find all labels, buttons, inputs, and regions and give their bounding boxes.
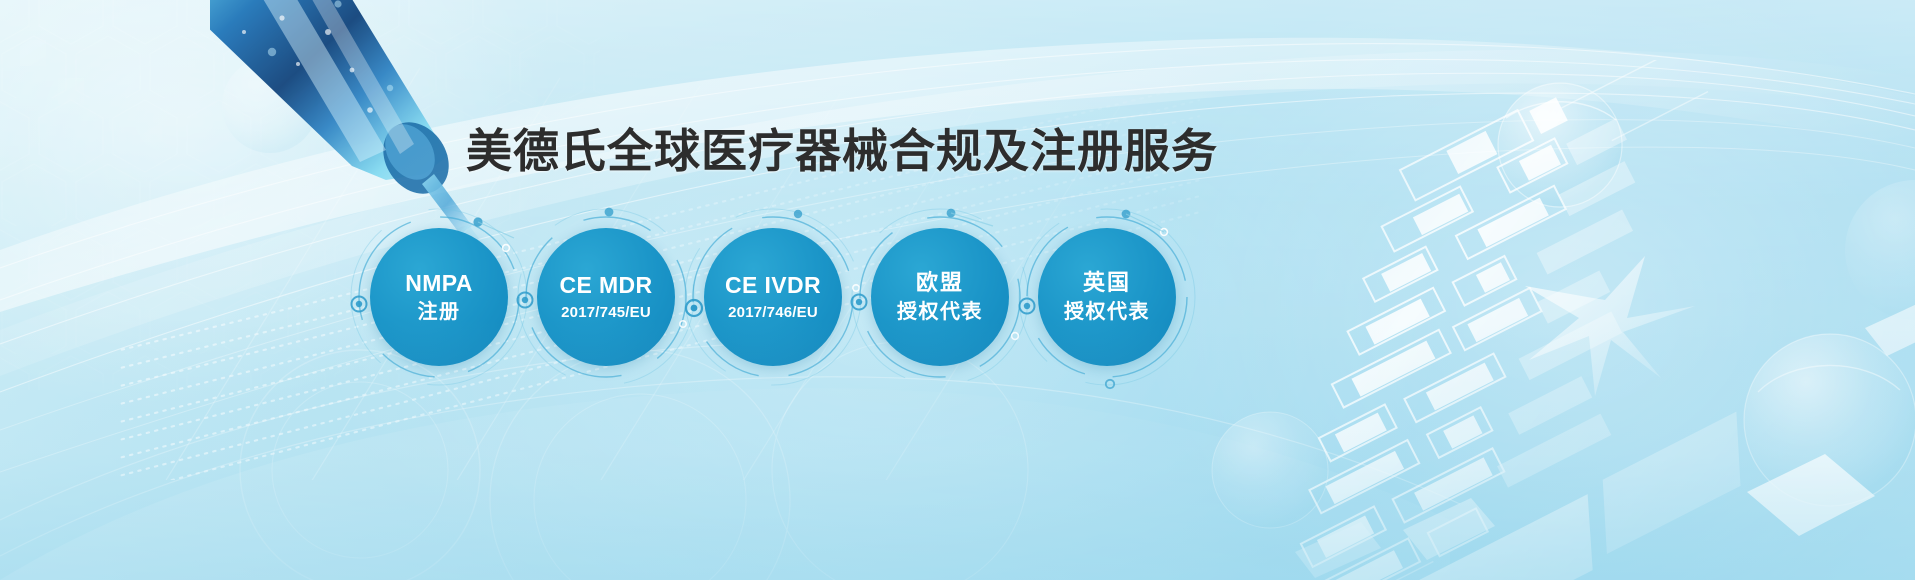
- badge-disc: CE IVDR 2017/746/EU: [704, 228, 842, 366]
- badge-line2: 授权代表: [1064, 299, 1150, 325]
- digital-mosaic-icon: [1175, 60, 1915, 580]
- badge-disc: CE MDR 2017/745/EU: [537, 228, 675, 366]
- page-title: 美德氏全球医疗器械合规及注册服务: [466, 124, 1218, 178]
- badge-ce-ivdr[interactable]: CE IVDR 2017/746/EU: [704, 228, 842, 366]
- badge-disc: NMPA 注册: [370, 228, 508, 366]
- badge-nmpa[interactable]: NMPA 注册: [370, 228, 508, 366]
- badge-line2: 2017/746/EU: [728, 303, 818, 323]
- badge-line1: CE MDR: [559, 271, 652, 300]
- certification-badge-row: NMPA 注册 CE MDR 2017/745/EU: [350, 228, 1250, 388]
- hero-banner: 美德氏全球医疗器械合规及注册服务 NMPA 注册: [0, 0, 1915, 580]
- badge-line2: 授权代表: [897, 299, 983, 325]
- badge-line1: 英国: [1083, 269, 1131, 297]
- badge-line2: 2017/745/EU: [561, 303, 651, 323]
- badge-line1: CE IVDR: [725, 271, 821, 300]
- badge-line1: NMPA: [405, 269, 473, 298]
- badge-disc: 欧盟 授权代表: [871, 228, 1009, 366]
- badge-line1: 欧盟: [916, 269, 964, 297]
- badge-disc: 英国 授权代表: [1038, 228, 1176, 366]
- badge-line2: 注册: [418, 299, 461, 325]
- badge-ce-mdr[interactable]: CE MDR 2017/745/EU: [537, 228, 675, 366]
- badge-uk-rep[interactable]: 英国 授权代表: [1038, 228, 1176, 366]
- badge-eu-rep[interactable]: 欧盟 授权代表: [871, 228, 1009, 366]
